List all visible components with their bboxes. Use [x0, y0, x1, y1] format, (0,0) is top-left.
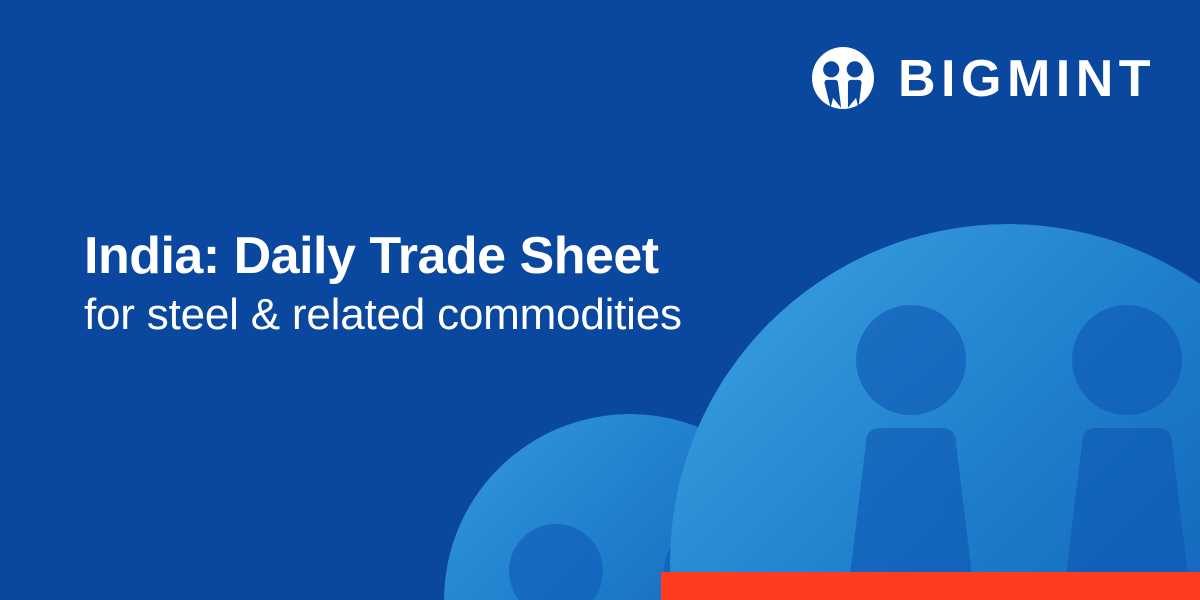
brand-lockup[interactable]: BIGMINT: [812, 47, 1156, 109]
headline-block: India: Daily Trade Sheet for steel & rel…: [84, 228, 682, 339]
bigmint-people-logo-icon: [812, 47, 874, 109]
page-title: India: Daily Trade Sheet: [84, 228, 682, 284]
page-subtitle: for steel & related commodities: [84, 290, 682, 339]
decorative-circle-large: [670, 224, 1200, 600]
accent-bar: [661, 572, 1200, 600]
brand-wordmark: BIGMINT: [898, 53, 1156, 105]
promo-banner: BIGMINT India: Daily Trade Sheet for ste…: [0, 0, 1200, 600]
